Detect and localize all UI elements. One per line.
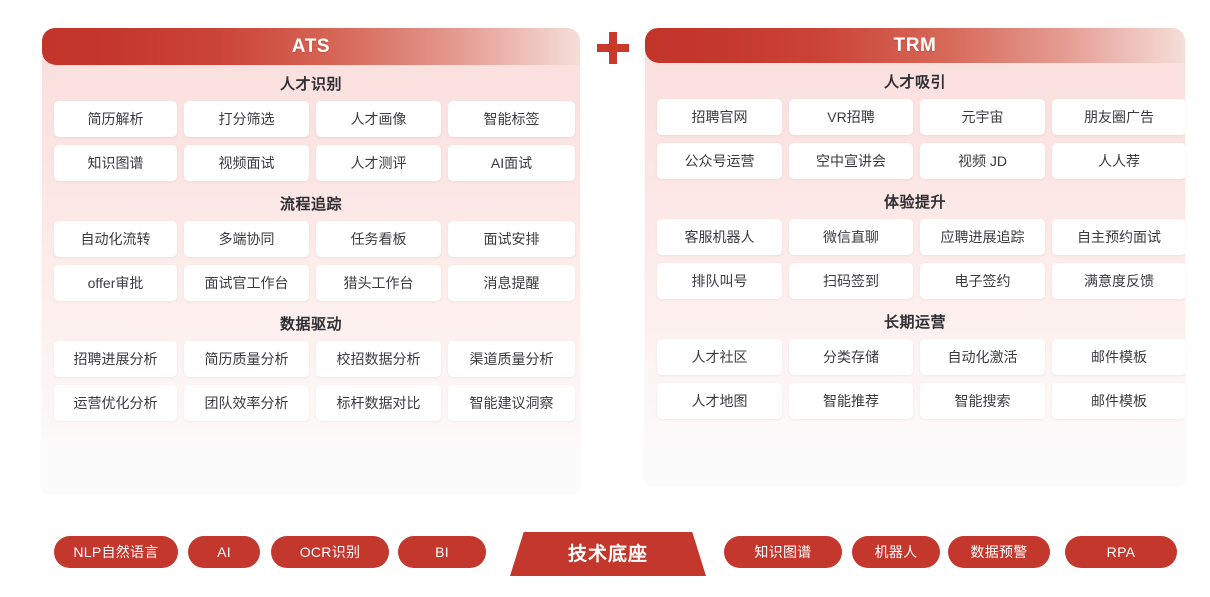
capability-cell[interactable]: 电子签约: [920, 263, 1045, 299]
capability-cell[interactable]: 人才社区: [657, 339, 782, 375]
capability-row: 排队叫号 扫码签到 电子签约 满意度反馈: [645, 263, 1185, 299]
capability-cell[interactable]: 满意度反馈: [1052, 263, 1185, 299]
tech-foundation-bar: NLP自然语言 AI OCR识别 BI 技术底座 知识图谱 机器人 数据预警 R…: [0, 530, 1210, 580]
capability-cell[interactable]: 智能搜索: [920, 383, 1045, 419]
capability-row: 简历解析 打分筛选 人才画像 智能标签: [42, 101, 580, 137]
capability-cell[interactable]: VR招聘: [789, 99, 913, 135]
capability-cell[interactable]: 智能标签: [448, 101, 575, 137]
capability-row: 知识图谱 视频面试 人才测评 AI面试: [42, 145, 580, 181]
capability-cell[interactable]: 公众号运营: [657, 143, 782, 179]
capability-cell[interactable]: 邮件模板: [1052, 339, 1185, 375]
capability-cell[interactable]: 任务看板: [316, 221, 441, 257]
capability-cell[interactable]: 分类存储: [789, 339, 913, 375]
capability-row: 招聘进展分析 简历质量分析 校招数据分析 渠道质量分析: [42, 341, 580, 377]
pill-data-alert[interactable]: 数据预警: [948, 536, 1050, 568]
capability-row: 公众号运营 空中宣讲会 视频 JD 人人荐: [645, 143, 1185, 179]
capability-cell[interactable]: 自主预约面试: [1052, 219, 1185, 255]
capability-cell[interactable]: 朋友圈广告: [1052, 99, 1185, 135]
capability-cell[interactable]: 打分筛选: [184, 101, 309, 137]
capability-cell[interactable]: 邮件模板: [1052, 383, 1185, 419]
group-title-long-term-operation: 长期运营: [645, 307, 1185, 339]
group-title-process-tracking: 流程追踪: [42, 189, 580, 221]
capability-row: 运营优化分析 团队效率分析 标杆数据对比 智能建议洞察: [42, 385, 580, 421]
panel-ats: ATS 人才识别 简历解析 打分筛选 人才画像 智能标签 知识图谱 视频面试 人…: [42, 28, 580, 492]
pill-ocr[interactable]: OCR识别: [271, 536, 389, 568]
capability-cell[interactable]: 运营优化分析: [54, 385, 177, 421]
capability-cell[interactable]: 人人荐: [1052, 143, 1185, 179]
tech-foundation-banner: 技术底座: [510, 532, 706, 576]
capability-cell[interactable]: 团队效率分析: [184, 385, 309, 421]
capability-cell[interactable]: 面试安排: [448, 221, 575, 257]
capability-cell[interactable]: 标杆数据对比: [316, 385, 441, 421]
capability-board: ATS 人才识别 简历解析 打分筛选 人才画像 智能标签 知识图谱 视频面试 人…: [0, 0, 1210, 510]
capability-cell[interactable]: 知识图谱: [54, 145, 177, 181]
panel-ats-body: 人才识别 简历解析 打分筛选 人才画像 智能标签 知识图谱 视频面试 人才测评 …: [42, 65, 580, 433]
capability-row: 客服机器人 微信直聊 应聘进展追踪 自主预约面试: [645, 219, 1185, 255]
plus-icon-bar-vertical: [609, 32, 617, 64]
capability-cell[interactable]: 客服机器人: [657, 219, 782, 255]
capability-cell[interactable]: 空中宣讲会: [789, 143, 913, 179]
capability-cell[interactable]: 应聘进展追踪: [920, 219, 1045, 255]
capability-cell[interactable]: 视频面试: [184, 145, 309, 181]
capability-cell[interactable]: AI面试: [448, 145, 575, 181]
capability-cell[interactable]: 简历质量分析: [184, 341, 309, 377]
capability-cell[interactable]: 扫码签到: [789, 263, 913, 299]
capability-row: 招聘官网 VR招聘 元宇宙 朋友圈广告: [645, 99, 1185, 135]
capability-row: offer审批 面试官工作台 猎头工作台 消息提醒: [42, 265, 580, 301]
pill-robot[interactable]: 机器人: [852, 536, 940, 568]
capability-cell[interactable]: 猎头工作台: [316, 265, 441, 301]
capability-cell[interactable]: 多端协同: [184, 221, 309, 257]
capability-row: 人才地图 智能推荐 智能搜索 邮件模板: [645, 383, 1185, 419]
capability-cell[interactable]: 智能推荐: [789, 383, 913, 419]
panel-trm-title: TRM: [894, 36, 937, 55]
group-title-talent-attraction: 人才吸引: [645, 67, 1185, 99]
capability-cell[interactable]: 自动化激活: [920, 339, 1045, 375]
capability-cell[interactable]: 人才地图: [657, 383, 782, 419]
capability-cell[interactable]: 消息提醒: [448, 265, 575, 301]
capability-cell[interactable]: offer审批: [54, 265, 177, 301]
capability-cell[interactable]: 智能建议洞察: [448, 385, 575, 421]
capability-cell[interactable]: 面试官工作台: [184, 265, 309, 301]
capability-cell[interactable]: 人才测评: [316, 145, 441, 181]
capability-cell[interactable]: 渠道质量分析: [448, 341, 575, 377]
pill-nlp[interactable]: NLP自然语言: [54, 536, 178, 568]
group-title-talent-identification: 人才识别: [42, 69, 580, 101]
capability-cell[interactable]: 视频 JD: [920, 143, 1045, 179]
capability-cell[interactable]: 排队叫号: [657, 263, 782, 299]
capability-cell[interactable]: 自动化流转: [54, 221, 177, 257]
plus-icon: [597, 32, 629, 64]
tech-foundation-banner-label: 技术底座: [568, 545, 648, 564]
pill-knowledge-graph[interactable]: 知识图谱: [724, 536, 842, 568]
group-title-data-driven: 数据驱动: [42, 309, 580, 341]
pill-bi[interactable]: BI: [398, 536, 486, 568]
pill-rpa[interactable]: RPA: [1065, 536, 1177, 568]
capability-row: 自动化流转 多端协同 任务看板 面试安排: [42, 221, 580, 257]
capability-cell[interactable]: 微信直聊: [789, 219, 913, 255]
capability-cell[interactable]: 人才画像: [316, 101, 441, 137]
pill-ai[interactable]: AI: [188, 536, 260, 568]
capability-cell[interactable]: 校招数据分析: [316, 341, 441, 377]
capability-cell[interactable]: 招聘官网: [657, 99, 782, 135]
capability-cell[interactable]: 元宇宙: [920, 99, 1045, 135]
panel-trm-header: TRM: [645, 28, 1185, 63]
panel-ats-header: ATS: [42, 28, 580, 65]
capability-cell[interactable]: 简历解析: [54, 101, 177, 137]
capability-cell[interactable]: 招聘进展分析: [54, 341, 177, 377]
capability-row: 人才社区 分类存储 自动化激活 邮件模板: [645, 339, 1185, 375]
panel-trm: TRM 人才吸引 招聘官网 VR招聘 元宇宙 朋友圈广告 公众号运营 空中宣讲会…: [645, 28, 1185, 484]
panel-ats-title: ATS: [292, 37, 330, 56]
group-title-experience-improvement: 体验提升: [645, 187, 1185, 219]
panel-trm-body: 人才吸引 招聘官网 VR招聘 元宇宙 朋友圈广告 公众号运营 空中宣讲会 视频 …: [645, 63, 1185, 431]
